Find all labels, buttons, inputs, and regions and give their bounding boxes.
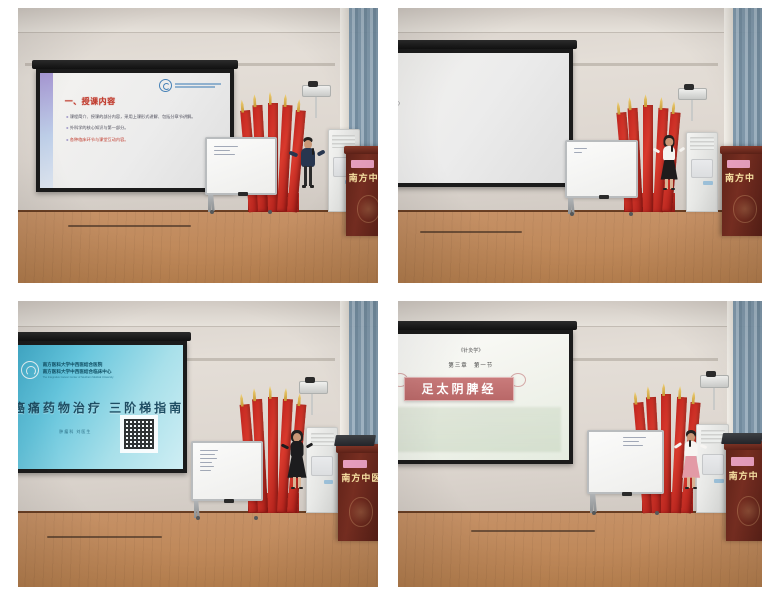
caster-wheel xyxy=(655,511,659,515)
slide-banner: 足太阴脾经 xyxy=(404,377,514,401)
slide-line: 病理类型 xyxy=(398,111,547,117)
whiteboard-writing xyxy=(623,437,656,481)
podium-name-card xyxy=(351,160,374,168)
ceiling-projector xyxy=(678,88,707,100)
arm-left xyxy=(678,146,685,152)
projection-screen[interactable]: 《针灸学》 第三章 第一节 足太阴脾经 xyxy=(398,330,573,464)
skirt xyxy=(661,160,678,180)
podium: 南方中医 xyxy=(338,444,378,541)
lecture-hall-scene: 一、授课内容 课程简介、授课的部分内容，采用上课形式讲解、包括分章节讲解。 外科… xyxy=(18,8,378,283)
whiteboard-surface xyxy=(565,140,638,198)
logo-ring-icon xyxy=(159,79,172,92)
podium-name-card xyxy=(343,460,366,469)
arm-right xyxy=(653,147,661,153)
caster-wheel xyxy=(210,210,214,214)
ceiling-beam xyxy=(398,8,762,33)
screen-roller xyxy=(398,40,577,49)
ac-indicator xyxy=(703,181,713,185)
skirt xyxy=(287,456,306,478)
slide-background-photo xyxy=(398,407,561,453)
ac-indicator xyxy=(324,480,333,484)
microphone xyxy=(299,440,301,447)
floor xyxy=(18,212,378,284)
microphone xyxy=(689,440,691,447)
floor-cable xyxy=(471,530,595,532)
slide-outline-list: 妇科恶性肿瘤诊疗 流行病学 临床表现 分期（FIGO分期、AJCC分期） 病理类… xyxy=(398,69,547,166)
slide-title: 癌痛药物治疗 三阶梯指南 xyxy=(18,399,183,416)
legs xyxy=(304,166,312,186)
photo-grid: 一、授课内容 课程简介、授课的部分内容，采用上课形式讲解、包括分章节讲解。 外科… xyxy=(0,0,780,595)
slide-sidebar xyxy=(40,73,53,189)
ceiling-projector xyxy=(302,85,331,97)
org-line-2: 南方医科大学中西医结合临床中心 xyxy=(43,369,114,375)
ceiling-projector xyxy=(700,375,729,388)
ac-vent xyxy=(690,137,713,149)
projection-screen[interactable]: 南方医科大学中西医结合医院 南方医科大学中西医结合临床中心 The Integr… xyxy=(18,341,187,473)
torso xyxy=(663,146,675,161)
podium-label: 南方中医 xyxy=(341,471,378,484)
whiteboard-surface xyxy=(587,430,663,495)
slide-surface: 《针灸学》 第三章 第一节 足太阴脾经 xyxy=(398,334,569,460)
arm-left xyxy=(306,442,314,448)
whiteboard[interactable] xyxy=(205,137,277,211)
whiteboard-writing xyxy=(574,148,615,185)
podium-emblem xyxy=(357,195,378,222)
photo-bottom-left[interactable]: 南方医科大学中西医结合医院 南方医科大学中西医结合临床中心 The Integr… xyxy=(18,301,378,587)
microphone xyxy=(312,148,314,155)
org-line-en: The Integrative Cancer Center of Souther… xyxy=(43,376,114,379)
air-conditioner xyxy=(686,132,719,212)
slide-surface: 一、授课内容 课程简介、授课的部分内容，采用上课形式讲解、包括分章节讲解。 外科… xyxy=(40,73,230,189)
torso xyxy=(290,441,303,457)
podium-label: 南方中 xyxy=(729,469,762,482)
presenter-person xyxy=(292,137,324,231)
floor-cable xyxy=(420,231,522,233)
slide-org-logo: 南方医科大学中西医结合医院 南方医科大学中西医结合临床中心 The Integr… xyxy=(21,361,114,379)
podium-emblem xyxy=(737,496,760,526)
floor-cable xyxy=(47,536,162,538)
university-emblem-icon xyxy=(21,361,39,379)
arm-right xyxy=(673,442,681,449)
floor-cable xyxy=(68,225,190,227)
lecture-hall-scene: 妇科恶性肿瘤诊疗 流行病学 临床表现 分期（FIGO分期、AJCC分期） 病理类… xyxy=(398,8,762,283)
flag xyxy=(268,397,278,513)
podium-top xyxy=(720,146,762,154)
screen-roller xyxy=(398,321,577,330)
ceiling-beam xyxy=(18,8,378,33)
flag xyxy=(643,105,653,211)
slide-subtitle: 肿瘤科 刘医生 xyxy=(59,429,91,435)
podium: 南方中 xyxy=(726,441,762,541)
slide-line: 化疗及靶向治疗 xyxy=(398,151,547,156)
slide-line: 分期（FIGO分期、AJCC分期） xyxy=(398,101,547,107)
slide-logo-icon xyxy=(159,79,221,92)
slide-bullet: 各种临床环节与课堂互动内容。 xyxy=(67,137,215,143)
slide-banner-title: 足太阴脾经 xyxy=(422,380,497,397)
ceiling-beam xyxy=(18,301,378,327)
shoes xyxy=(291,487,303,490)
microphone xyxy=(671,145,673,152)
slide-org-text: 南方医科大学中西医结合医院 南方医科大学中西医结合临床中心 The Integr… xyxy=(43,362,114,379)
whiteboard-writing xyxy=(214,146,255,183)
podium-label: 南方中医 xyxy=(349,171,378,184)
whiteboard-surface xyxy=(191,441,263,501)
slide-surface: 南方医科大学中西医结合医院 南方医科大学中西医结合临床中心 The Integr… xyxy=(18,345,183,469)
shoes xyxy=(685,487,697,490)
whiteboard[interactable] xyxy=(587,430,663,513)
slide-bullet-list: 课程简介、授课的部分内容，采用上课形式讲解、包括分章节讲解。 外科学的核心知识与… xyxy=(67,114,215,143)
floor xyxy=(398,513,762,587)
presenter-person xyxy=(653,135,686,240)
podium-emblem xyxy=(349,497,372,526)
laptop xyxy=(721,433,762,444)
whiteboard[interactable] xyxy=(191,441,263,518)
lecture-hall-scene: 南方医科大学中西医结合医院 南方医科大学中西医结合临床中心 The Integr… xyxy=(18,301,378,587)
slide-chapter: 第三章 第一节 xyxy=(398,361,569,369)
logo-text-lines xyxy=(175,83,221,88)
photo-top-right[interactable]: 妇科恶性肿瘤诊疗 流行病学 临床表现 分期（FIGO分期、AJCC分期） 病理类… xyxy=(398,8,762,283)
ac-indicator xyxy=(714,479,724,483)
ceiling-projector xyxy=(299,381,328,394)
ac-panel xyxy=(691,159,713,178)
slide-line: 预后 xyxy=(398,160,547,166)
floor xyxy=(18,513,378,587)
podium-label: 南方中 xyxy=(725,171,762,184)
arm-left xyxy=(700,443,708,448)
skirt xyxy=(682,456,700,478)
slide-bullet: 课程简介、授课的部分内容，采用上课形式讲解、包括分章节讲解。 xyxy=(67,114,215,120)
slide-line: 放疗 xyxy=(398,142,547,147)
podium-name-card xyxy=(731,457,754,466)
presenter-person xyxy=(675,430,708,544)
whiteboard-writing xyxy=(200,450,241,488)
slide-line: 妇科恶性肿瘤诊疗 xyxy=(398,69,547,76)
slide-surface: 妇科恶性肿瘤诊疗 流行病学 临床表现 分期（FIGO分期、AJCC分期） 病理类… xyxy=(398,53,569,183)
screen-roller xyxy=(18,332,191,341)
podium-emblem xyxy=(733,195,756,222)
ac-panel xyxy=(311,456,333,476)
slide-line: 治疗方法 xyxy=(398,122,547,128)
screen-roller xyxy=(32,60,238,69)
whiteboard[interactable] xyxy=(565,140,638,214)
arm-right xyxy=(281,443,290,449)
projection-screen[interactable]: 妇科恶性肿瘤诊疗 流行病学 临床表现 分期（FIGO分期、AJCC分期） 病理类… xyxy=(398,49,573,187)
whiteboard-surface xyxy=(205,137,277,195)
qr-code-icon xyxy=(122,417,156,451)
photo-top-left[interactable]: 一、授课内容 课程简介、授课的部分内容，采用上课形式讲解、包括分章节讲解。 外科… xyxy=(18,8,378,283)
slide-line: 流行病学 xyxy=(398,80,547,86)
presenter-person xyxy=(281,430,313,544)
slide-bullet: 外科学的核心知识与第一部分。 xyxy=(67,125,215,131)
photo-bottom-right[interactable]: 《针灸学》 第三章 第一节 足太阴脾经 xyxy=(398,301,762,587)
whiteboard-stand xyxy=(568,198,635,214)
podium-name-card xyxy=(727,160,750,168)
lecture-hall-scene: 《针灸学》 第三章 第一节 足太阴脾经 xyxy=(398,301,762,587)
podium-top xyxy=(344,146,378,154)
slide-line: 临床表现 xyxy=(398,91,547,97)
shoes xyxy=(302,185,314,188)
whiteboard-stand xyxy=(590,494,660,512)
whiteboard-stand xyxy=(208,195,274,211)
slide-line: 手术 xyxy=(398,132,547,137)
podium: 南方中医 xyxy=(346,146,378,237)
slide-title: 一、授课内容 xyxy=(65,96,116,107)
caster-wheel xyxy=(268,210,272,214)
floor xyxy=(398,212,762,284)
laptop xyxy=(334,435,376,446)
ac-vent xyxy=(311,433,334,446)
podium: 南方中 xyxy=(722,146,762,237)
whiteboard-stand xyxy=(194,501,260,518)
slide-book-title: 《针灸学》 xyxy=(398,347,569,354)
org-line-1: 南方医科大学中西医结合医院 xyxy=(43,362,114,368)
shoes xyxy=(663,188,675,191)
